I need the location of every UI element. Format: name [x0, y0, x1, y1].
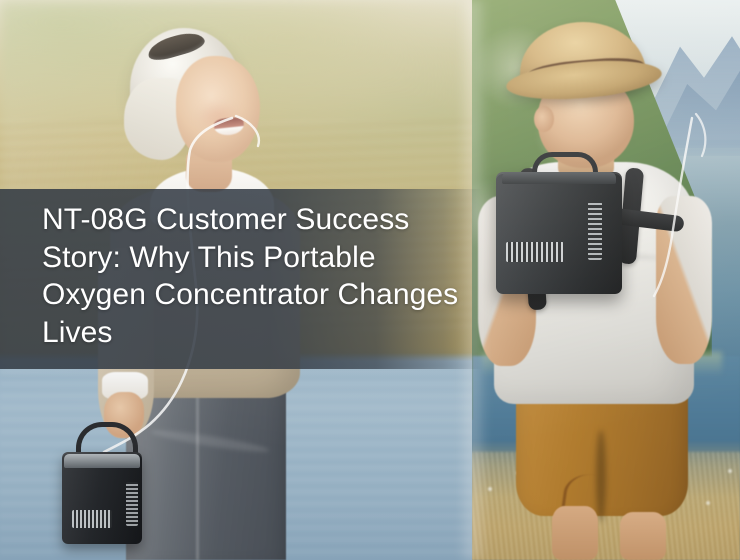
concentrator-front-vent — [72, 510, 112, 528]
hero-banner: NT-08G Customer Success Story: Why This … — [0, 0, 740, 560]
man-right-leg — [620, 512, 666, 560]
portable-oxygen-concentrator-backpack — [496, 172, 622, 294]
portable-oxygen-concentrator-handheld — [62, 448, 144, 544]
man-ear — [534, 106, 554, 132]
concentrator-top-lid — [64, 454, 140, 468]
hero-headline: NT-08G Customer Success Story: Why This … — [42, 201, 472, 351]
concentrator-back-top — [502, 172, 616, 184]
concentrator-side-vent — [126, 482, 138, 526]
subject-man-with-hat — [472, 0, 740, 560]
concentrator-back-vent — [506, 242, 564, 262]
concentrator-back-body — [496, 172, 622, 294]
woman-jeans-seam — [196, 372, 199, 560]
man-left-leg — [552, 506, 598, 560]
concentrator-back-side-vent — [588, 202, 602, 260]
